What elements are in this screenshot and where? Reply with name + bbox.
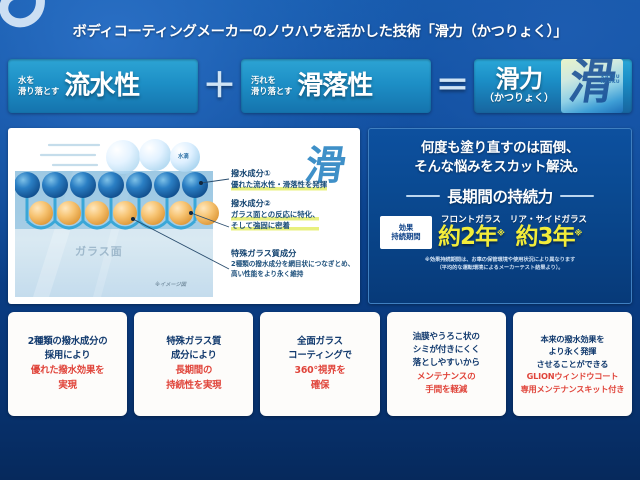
benefit-3-line-1: 全面ガラス xyxy=(297,335,343,350)
durability-promise-card: 何度も塗り直すのは面倒、 そんな悩みをスカット解決。 長期間の持続力 効果 持続… xyxy=(368,128,632,304)
formula-term1-caption: 水を 滑り落とす xyxy=(18,75,59,96)
benefit-5-line-5: 専用メンテナンスキット付き xyxy=(521,383,625,395)
water-droplet-label: 水滴 xyxy=(178,152,189,160)
benefit-card-maintenance: 油膜やうろこ状の シミが付きにくく 落としやすいから メンテナンスの 手間を軽減 xyxy=(387,312,506,416)
benefit-card-visibility: 全面ガラス コーティングで 360°視界を 確保 xyxy=(260,312,379,416)
diagram-label-3-heading: 特殊ガラス質成分 xyxy=(231,247,354,259)
benefit-card-water-repellency: 2種類の撥水成分の 採用により 優れた撥水効果を 実現 xyxy=(8,312,127,416)
benefit-1-line-2: 採用により xyxy=(45,349,91,364)
formula-row: 水を 滑り落とす 流水性 ＋ 汚れを 滑り落とす 滑落性 ＝ 滑力 （かつりょく… xyxy=(8,55,632,117)
benefit-card-maintenance-kit: 本来の撥水効果を より永く発揮 させることができる GLIONウィンドウコート … xyxy=(513,312,632,416)
formula-term1-caption-line2: 滑り落とす xyxy=(18,86,59,96)
diagram-label-repellent-2: 撥水成分② ガラス面との反応に特化、 そして強固に密着 xyxy=(231,197,319,231)
equals-operator-icon: ＝ xyxy=(432,69,474,103)
diagram-label-2-body1: ガラス面との反応に特化、 xyxy=(231,210,319,221)
formula-result-katsuryoku: 滑力 （かつりょく） 滑 KATSURYOKU xyxy=(474,59,632,113)
duration-front-value: 約2年※ xyxy=(438,226,504,249)
plus-operator-icon: ＋ xyxy=(199,69,241,103)
benefit-3-line-3: 360°視界を xyxy=(295,364,346,379)
duration-rear-value-text: 約3年 xyxy=(515,224,574,250)
advertisement-page: ボディコーティングメーカーのノウハウを活かした技術「滑力（かつりょく）」 水を … xyxy=(0,0,640,480)
diagram-label-3-body1: 2種類の撥水成分を網目状につなぎとめ、 xyxy=(231,260,354,270)
diagram-label-1-body1: 優れた流水性・滑落性を発揮 xyxy=(231,180,327,191)
formula-term2-label: 滑落性 xyxy=(297,73,372,99)
rule-left xyxy=(406,195,440,197)
middle-section: 滑 水滴 ガラス面 ※イメージ図 撥水成分① 優れた流水性・滑落性を発揮 撥水成… xyxy=(8,128,632,304)
duration-rear-side-glass: リア・サイドガラス 約3年※ xyxy=(510,216,587,249)
formula-term2-caption-line1: 汚れを xyxy=(251,75,276,85)
benefit-1-line-1: 2種類の撥水成分の xyxy=(28,335,108,350)
katsuryoku-brush-logo: 滑 KATSURYOKU xyxy=(561,59,623,113)
diagram-label-3-body2: 高い性能をより永く維持 xyxy=(231,270,354,280)
benefit-4-line-4: メンテナンスの xyxy=(417,371,476,384)
coating-structure-diagram-card: 滑 水滴 ガラス面 ※イメージ図 撥水成分① 優れた流水性・滑落性を発揮 撥水成… xyxy=(8,128,360,304)
benefit-4-line-2: シミが付きにくく xyxy=(413,344,480,357)
diagram-image-note: ※イメージ図 xyxy=(155,281,186,288)
diagram-label-glassy-component: 特殊ガラス質成分 2種類の撥水成分を網目状につなぎとめ、 高い性能をより永く維持 xyxy=(231,247,354,279)
promise-headline: 何度も塗り直すのは面倒、 そんな悩みをスカット解決。 xyxy=(377,139,623,178)
benefit-4-line-5: 手間を軽減 xyxy=(425,384,467,397)
benefit-4-line-3: 落としやすいから xyxy=(413,357,480,370)
promise-headline-line1: 何度も塗り直すのは面倒、 xyxy=(421,141,579,156)
page-title: ボディコーティングメーカーのノウハウを活かした技術「滑力（かつりょく）」 xyxy=(0,20,640,41)
promise-disclaimer: ※効果持続期間は、お車の保管環境や使用状況により異なります （平均的な運転環境に… xyxy=(377,256,623,273)
duration-rear-value: 約3年※ xyxy=(515,226,581,249)
glass-surface-label: ガラス面 xyxy=(75,243,123,259)
duration-front-glass: フロントガラス 約2年※ xyxy=(438,216,504,249)
formula-result-reading: （かつりょく） xyxy=(484,94,554,104)
benefit-card-durability: 特殊ガラス質 成分により 長期間の 持続性を実現 xyxy=(134,312,253,416)
formula-result-label: 滑力 xyxy=(496,67,543,91)
duration-badge-line2: 持続期間 xyxy=(391,232,420,242)
duration-badge-line1: 効果 xyxy=(399,223,414,233)
formula-term-katsurakusei: 汚れを 滑り落とす 滑落性 xyxy=(241,59,431,113)
promise-disclaimer-line2: （平均的な運転環境によるメーカーテスト結果より）。 xyxy=(436,265,563,271)
benefit-2-line-1: 特殊ガラス質 xyxy=(166,335,221,350)
promise-subhead-row: 長期間の持続力 xyxy=(377,185,623,207)
diagram-label-1-heading: 撥水成分① xyxy=(231,167,327,179)
formula-term1-caption-line1: 水を xyxy=(18,75,35,85)
benefit-1-line-3: 優れた撥水効果を xyxy=(31,364,104,379)
duration-front-mark: ※ xyxy=(497,228,504,237)
promise-disclaimer-line1: ※効果持続期間は、お車の保管環境や使用状況により異なります xyxy=(425,257,575,263)
diagram-label-2-body2: そして強固に密着 xyxy=(231,221,319,232)
benefit-3-line-4: 確保 xyxy=(311,379,329,394)
diagram-label-2-heading: 撥水成分② xyxy=(231,197,319,209)
benefit-5-line-1: 本来の撥水効果を xyxy=(540,333,604,345)
formula-result-text: 滑力 （かつりょく） xyxy=(484,67,554,104)
benefit-2-line-4: 持続性を実現 xyxy=(166,379,221,394)
promise-headline-line2: そんな悩みをスカット解決。 xyxy=(414,160,585,175)
benefit-5-line-3: させることができる xyxy=(537,358,609,370)
brush-romaji: KATSURYOKU xyxy=(600,75,620,86)
benefit-2-line-3: 長期間の xyxy=(175,364,212,379)
benefit-5-line-4: GLIONウィンドウコート xyxy=(527,370,619,382)
benefit-5-line-2: より永く発揮 xyxy=(549,345,597,357)
formula-term2-caption-line2: 滑り落とす xyxy=(251,86,292,96)
benefit-2-line-2: 成分により xyxy=(171,349,217,364)
formula-term1-label: 流水性 xyxy=(64,73,139,99)
duration-rear-mark: ※ xyxy=(575,228,582,237)
duration-row: 効果 持続期間 フロントガラス 約2年※ リア・サイドガラス 約3年※ xyxy=(377,216,623,249)
benefit-4-line-1: 油膜やうろこ状の xyxy=(413,331,480,344)
diagram-label-repellent-1: 撥水成分① 優れた流水性・滑落性を発揮 xyxy=(231,167,327,191)
benefit-1-line-4: 実現 xyxy=(58,379,76,394)
duration-badge: 効果 持続期間 xyxy=(380,216,432,249)
duration-front-value-text: 約2年 xyxy=(438,224,497,250)
diagram-wrapper: 滑 水滴 ガラス面 ※イメージ図 撥水成分① 優れた流水性・滑落性を発揮 撥水成… xyxy=(15,135,353,297)
rule-right xyxy=(560,195,594,197)
formula-term-ryusuisei: 水を 滑り落とす 流水性 xyxy=(8,59,198,113)
benefit-3-line-2: コーティングで xyxy=(288,349,352,364)
benefits-row: 2種類の撥水成分の 採用により 優れた撥水効果を 実現 特殊ガラス質 成分により… xyxy=(8,312,632,416)
formula-term2-caption: 汚れを 滑り落とす xyxy=(251,75,292,96)
promise-subhead: 長期間の持続力 xyxy=(447,185,553,207)
